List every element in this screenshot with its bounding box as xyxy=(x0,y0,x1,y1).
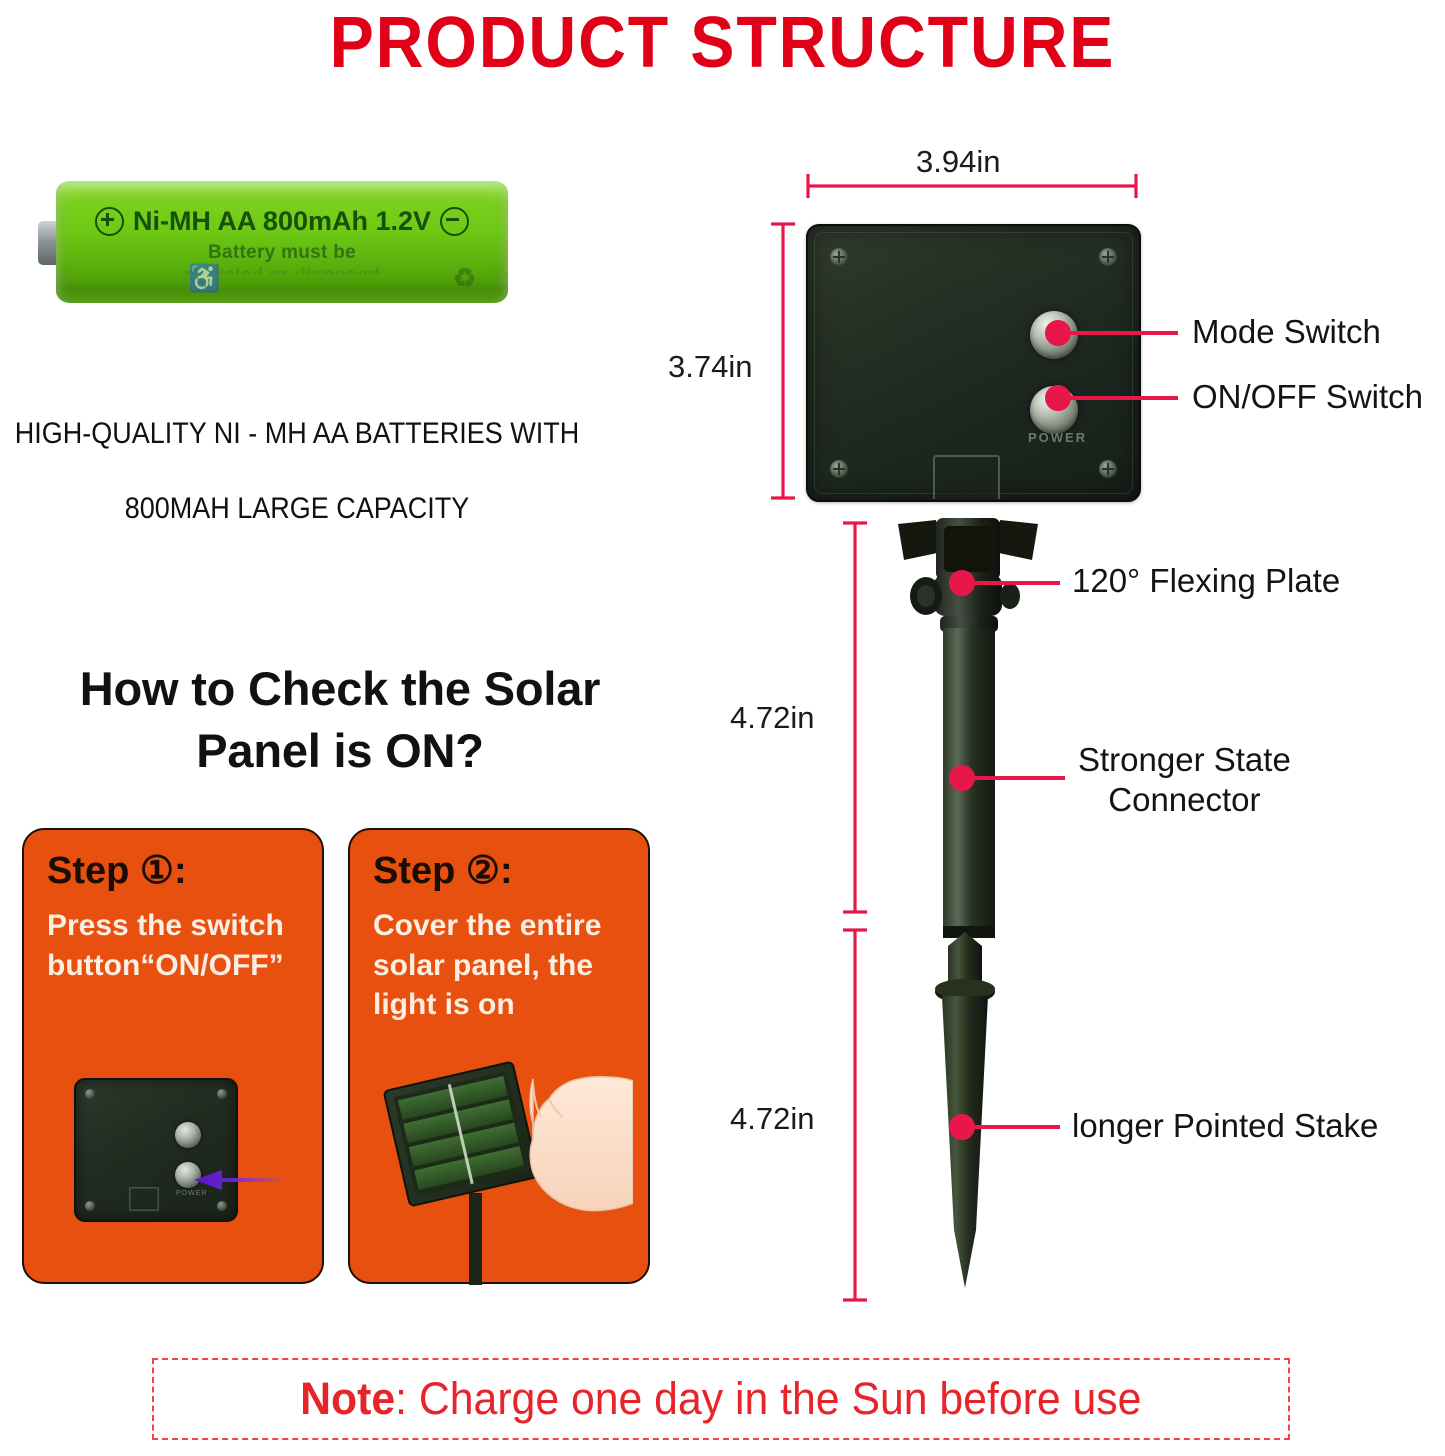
callout-onoff-switch: ON/OFF Switch xyxy=(1192,377,1423,417)
note-rest: : Charge one day in the Sun before use xyxy=(395,1373,1141,1424)
recycle-icon: ♻ xyxy=(453,263,476,294)
screw-icon xyxy=(1099,248,1117,266)
onoff-switch-button[interactable] xyxy=(1030,386,1078,434)
purple-arrow-icon xyxy=(186,1167,282,1193)
dimension-label-stake: 4.72in xyxy=(730,1101,814,1137)
howto-heading: How to Check the Solar Panel is ON? xyxy=(0,658,680,782)
howto-heading-line-2: Panel is ON? xyxy=(0,720,680,782)
battery-caption-line-2: 800MAH LARGE CAPACITY xyxy=(0,492,594,526)
step-2-body: Cover the entire solar panel, the light … xyxy=(373,906,641,1025)
step-1-body-line-1: Press the switch xyxy=(47,906,315,946)
callout-state-connector-line-2: Connector xyxy=(1078,780,1291,820)
step-2-solar-panel-illustration xyxy=(383,1053,633,1285)
step-1-body: Press the switch button“ON/OFF” xyxy=(47,906,315,985)
mode-switch-button[interactable] xyxy=(1030,311,1078,359)
note-text: Note: Charge one day in the Sun before u… xyxy=(300,1373,1141,1425)
battery-figure: Ni-MH AA 800mAh 1.2V Battery must be rec… xyxy=(38,181,508,303)
callout-flexing-plate: 120° Flexing Plate xyxy=(1072,561,1340,601)
battery-sub-line-2: recycled or disposed xyxy=(56,265,508,287)
note-bold-prefix: Note xyxy=(300,1373,395,1424)
battery-main-label: Ni-MH AA 800mAh 1.2V xyxy=(133,206,431,237)
battery-print: Ni-MH AA 800mAh 1.2V Battery must be rec… xyxy=(56,181,508,303)
battery-compartment-tab xyxy=(933,455,1000,499)
dimension-label-panel-width: 3.94in xyxy=(916,144,1000,180)
howto-heading-line-1: How to Check the Solar xyxy=(0,658,680,720)
mini-battery-door xyxy=(128,1186,160,1212)
dimension-label-pole: 4.72in xyxy=(730,700,814,736)
step-1-panel-back-illustration: POWER xyxy=(74,1078,238,1222)
pointed-stake-illustration xyxy=(910,930,1020,1290)
screw-icon xyxy=(1099,460,1117,478)
no-trash-icon: ♿ xyxy=(188,263,220,294)
callout-state-connector-line-1: Stronger State xyxy=(1078,740,1291,780)
callout-mode-switch: Mode Switch xyxy=(1192,312,1381,352)
pole-assembly-illustration xyxy=(890,518,1050,938)
step-2-title: Step ②: xyxy=(373,848,513,893)
plus-terminal-icon xyxy=(95,207,124,236)
step-2-body-line-3: light is on xyxy=(373,985,641,1025)
battery-sub-line-1: Battery must be xyxy=(56,242,508,264)
mini-mode-switch-icon xyxy=(175,1122,201,1148)
step-2-body-line-1: Cover the entire xyxy=(373,906,641,946)
callout-pointed-stake: longer Pointed Stake xyxy=(1072,1106,1378,1146)
screw-icon xyxy=(830,248,848,266)
step-1-body-line-2: button“ON/OFF” xyxy=(47,946,315,986)
minus-terminal-icon xyxy=(440,207,469,236)
screw-icon xyxy=(830,460,848,478)
note-bar: Note: Charge one day in the Sun before u… xyxy=(152,1358,1290,1440)
step-1-title: Step ①: xyxy=(47,848,187,893)
step-2-body-line-2: solar panel, the xyxy=(373,946,641,986)
page-title: PRODUCT STRUCTURE xyxy=(58,2,1387,84)
panel-power-label: POWER xyxy=(1028,430,1087,445)
callout-state-connector: Stronger State Connector xyxy=(1078,740,1291,821)
battery-caption-line-1: HIGH-QUALITY NI - MH AA BATTERIES WITH xyxy=(0,417,594,451)
dimension-label-panel-height: 3.74in xyxy=(668,349,752,385)
